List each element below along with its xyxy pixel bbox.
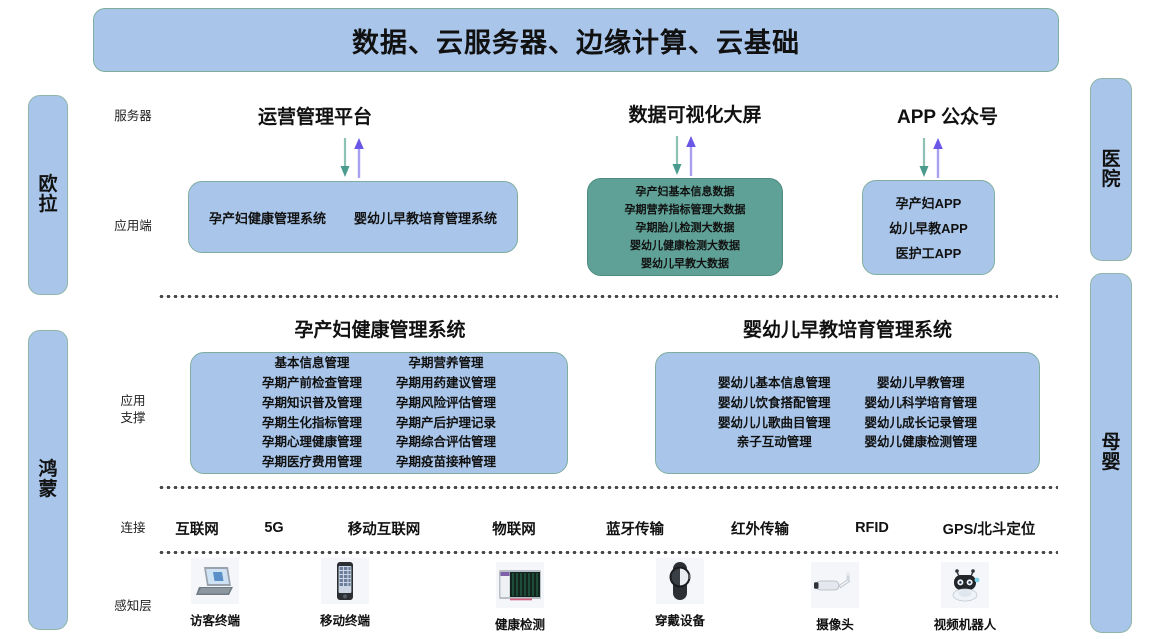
big-data-item: 婴幼儿早教大数据 [641, 255, 729, 271]
separator-dotted-top [158, 295, 1058, 298]
sense-label: 穿戴设备 [655, 610, 705, 629]
pillar-oula: 欧拉 [28, 95, 68, 295]
maternal-system-title: 孕产妇健康管理系统 [190, 315, 570, 342]
pillar-hospital-label: 医院 [1101, 150, 1120, 190]
big-data-item: 婴幼儿健康检测大数据 [630, 237, 740, 253]
maternal-column-1: 基本信息管理 孕期产前检查管理 孕期知识普及管理 孕期生化指标管理 孕期心理健康… [262, 354, 362, 472]
maternal-module: 孕期综合评估管理 [396, 433, 496, 452]
sense-cell-visitor-terminal[interactable]: 访客终端 [155, 558, 275, 629]
sense-label: 健康检测 [495, 614, 545, 633]
arrow-pair-viz [665, 134, 705, 178]
app-client-item: 幼儿早教APP [889, 218, 968, 237]
maternal-module: 孕期知识普及管理 [262, 394, 362, 413]
infant-system-title: 婴幼儿早教培育管理系统 [655, 315, 1040, 342]
pillar-hospital: 医院 [1090, 78, 1132, 261]
infant-system-box: 婴幼儿基本信息管理 婴幼儿饮食搭配管理 婴幼儿儿歌曲目管理 亲子互动管理 婴幼儿… [655, 352, 1040, 474]
app-client-item: 孕产妇APP [896, 193, 962, 212]
app-official-account-title: APP 公众号 [840, 102, 1055, 129]
big-data-item: 孕产妇基本信息数据 [636, 183, 735, 199]
connection-item: 红外传输 [696, 518, 824, 539]
maternal-column-2: 孕期营养管理 孕期用药建议管理 孕期风险评估管理 孕期产后护理记录 孕期综合评估… [396, 354, 496, 472]
infant-module: 婴幼儿早教管理 [877, 374, 965, 393]
maternal-module: 孕期产前检查管理 [262, 374, 362, 393]
sense-cell-mobile-terminal[interactable]: 移动终端 [285, 558, 405, 629]
infant-module: 婴幼儿儿歌曲目管理 [718, 414, 831, 433]
sense-label: 移动终端 [320, 610, 370, 629]
laptop-icon [191, 558, 239, 604]
separator-dotted-bottom [158, 551, 1058, 554]
maternal-module: 孕期疫苗接种管理 [396, 453, 496, 472]
row-label-app-side: 应用端 [96, 218, 170, 235]
maternal-system-box: 基本信息管理 孕期产前检查管理 孕期知识普及管理 孕期生化指标管理 孕期心理健康… [190, 352, 568, 474]
infant-column-1: 婴幼儿基本信息管理 婴幼儿饮食搭配管理 婴幼儿儿歌曲目管理 亲子互动管理 [718, 374, 831, 452]
pillar-oula-label: 欧拉 [38, 175, 57, 215]
maternal-module: 孕期心理健康管理 [262, 433, 362, 452]
app-client-item: 医护工APP [896, 243, 962, 262]
cloud-infrastructure-banner: 数据、云服务器、边缘计算、云基础 [93, 8, 1059, 72]
sense-label: 摄像头 [816, 614, 854, 633]
arrow-up-icon [354, 138, 364, 178]
architecture-diagram: 数据、云服务器、边缘计算、云基础 欧拉 鸿蒙 医院 母婴 服务器 应用端 应用支… [0, 0, 1152, 639]
infant-module: 婴幼儿健康检测管理 [865, 433, 978, 452]
arrow-up-icon [686, 136, 696, 176]
smartwatch-icon [656, 558, 704, 604]
maternal-module: 孕期医疗费用管理 [262, 453, 362, 472]
pillar-hongmeng: 鸿蒙 [28, 330, 68, 630]
sense-cell-health-monitor[interactable]: 健康检测 [460, 558, 580, 633]
data-visualization-title: 数据可视化大屏 [580, 100, 810, 127]
sense-cell-camera[interactable]: 摄像头 [775, 558, 895, 633]
connection-item: 蓝牙传输 [574, 518, 696, 539]
connection-item: 5G [234, 520, 314, 536]
big-data-box: 孕产妇基本信息数据 孕期营养指标管理大数据 孕期胎儿检测大数据 婴幼儿健康检测大… [587, 178, 783, 276]
pillar-muying-label: 母婴 [1101, 433, 1120, 473]
separator-dotted-middle [158, 486, 1058, 489]
banner-title: 数据、云服务器、边缘计算、云基础 [352, 21, 800, 60]
infant-column-2: 婴幼儿早教管理 婴幼儿科学培育管理 婴幼儿成长记录管理 婴幼儿健康检测管理 [865, 374, 978, 452]
maternal-module: 孕期营养管理 [409, 354, 484, 373]
connection-item: 移动互联网 [314, 518, 454, 539]
pillar-hongmeng-label: 鸿蒙 [38, 460, 57, 500]
infant-module: 婴幼儿科学培育管理 [865, 394, 978, 413]
maternal-module: 孕期风险评估管理 [396, 394, 496, 413]
sense-label: 访客终端 [190, 610, 240, 629]
maternal-module: 孕期生化指标管理 [262, 414, 362, 433]
ops-platform-title: 运营管理平台 [195, 102, 435, 129]
connection-item: RFID [824, 520, 920, 536]
health-monitor-icon [496, 562, 544, 608]
arrow-pair-ops [333, 136, 373, 180]
ops-item: 婴幼儿早教培育管理系统 [354, 208, 497, 227]
sense-cell-video-robot[interactable]: 视频机器人 [905, 558, 1025, 633]
row-label-server: 服务器 [96, 108, 170, 125]
mobile-phone-icon [321, 558, 369, 604]
app-clients-box: 孕产妇APP 幼儿早教APP 医护工APP [862, 180, 995, 275]
infant-module: 婴幼儿基本信息管理 [718, 374, 831, 393]
connection-item: 物联网 [454, 518, 574, 539]
big-data-item: 孕期营养指标管理大数据 [625, 201, 746, 217]
sense-label: 视频机器人 [934, 614, 997, 633]
arrow-up-icon [933, 138, 943, 178]
arrow-pair-app [912, 136, 952, 180]
ops-item: 孕产妇健康管理系统 [209, 208, 326, 227]
ops-platform-box: 孕产妇健康管理系统 婴幼儿早教培育管理系统 [188, 181, 518, 253]
infant-module: 亲子互动管理 [737, 433, 812, 452]
infant-module: 婴幼儿成长记录管理 [865, 414, 978, 433]
arrow-down-icon [920, 138, 929, 177]
big-data-item: 孕期胎儿检测大数据 [636, 219, 735, 235]
connection-item: GPS/北斗定位 [920, 518, 1058, 539]
connection-layer-row: 互联网 5G 移动互联网 物联网 蓝牙传输 红外传输 RFID GPS/北斗定位 [160, 515, 1058, 541]
maternal-module: 孕期产后护理记录 [396, 414, 496, 433]
maternal-module: 基本信息管理 [274, 354, 349, 373]
connection-item: 互联网 [160, 518, 234, 539]
cctv-camera-icon [811, 562, 859, 608]
arrow-down-icon [673, 136, 682, 175]
sensing-layer-row: 访客终端 移动终端 [160, 558, 1058, 638]
infant-module: 婴幼儿饮食搭配管理 [718, 394, 831, 413]
video-robot-icon [941, 562, 989, 608]
maternal-module: 孕期用药建议管理 [396, 374, 496, 393]
sense-cell-wearable[interactable]: 穿戴设备 [620, 558, 740, 629]
row-label-connect: 连接 [96, 520, 170, 537]
row-label-support: 应用支撑 [96, 393, 170, 427]
pillar-muying: 母婴 [1090, 273, 1132, 633]
arrow-down-icon [341, 138, 350, 177]
